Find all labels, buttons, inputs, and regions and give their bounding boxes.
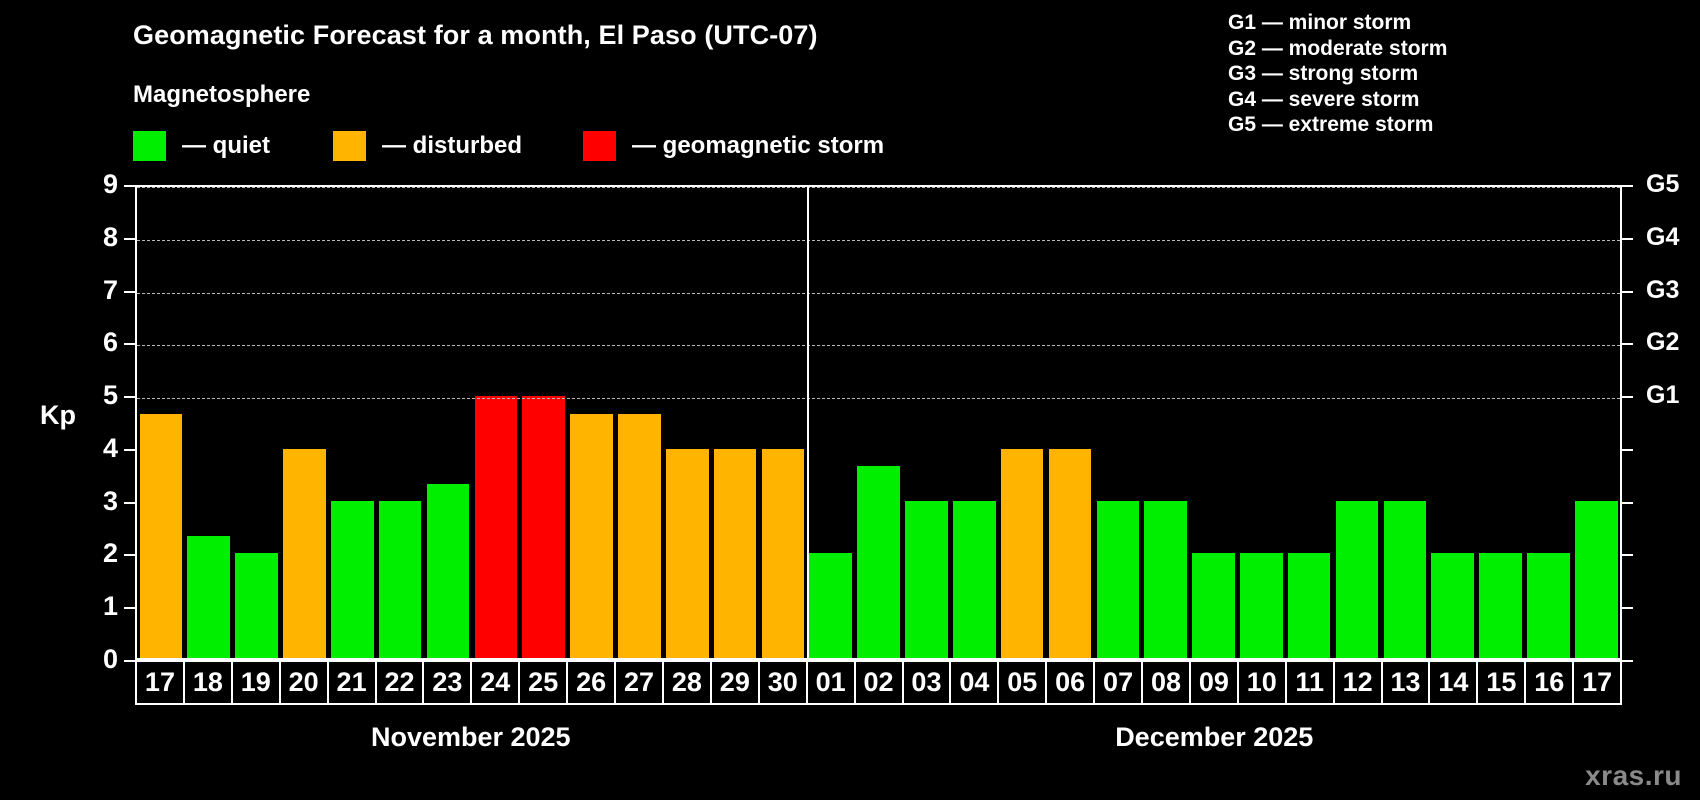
bar-cell [1285,187,1333,658]
bar-cell [807,187,855,658]
date-box-11[interactable]: 28 [662,660,712,705]
y-tick-label-2: 2 [72,540,118,567]
bar-cell [1237,187,1285,658]
date-box-21[interactable]: 08 [1141,660,1191,705]
chart-root: Geomagnetic Forecast for a month, El Pas… [0,0,1700,800]
bar-20[interactable] [283,449,326,658]
date-box-4[interactable]: 21 [327,660,377,705]
bar-24[interactable] [475,396,518,658]
bar-cell [376,187,424,658]
bar-cell [281,187,329,658]
gridline-kp-8 [137,240,1620,241]
gridline-kp-9 [137,187,1620,188]
date-box-25[interactable]: 12 [1333,660,1383,705]
bar-05[interactable] [1001,449,1044,658]
y-tick-5 [124,396,135,398]
bar-06[interactable] [1049,449,1092,658]
bar-cell [903,187,951,658]
date-box-10[interactable]: 27 [614,660,664,705]
bar-cell [472,187,520,658]
bar-cell [759,187,807,658]
bar-cell [1572,187,1620,658]
bar-cell [424,187,472,658]
bar-18[interactable] [187,536,230,658]
bar-cell [137,187,185,658]
bar-26[interactable] [570,414,613,658]
bar-cell [328,187,376,658]
date-box-7[interactable]: 24 [470,660,520,705]
y-tick-label-5: 5 [72,382,118,409]
g-tick-label-G3: G3 [1646,278,1679,303]
bar-12[interactable] [1336,501,1379,658]
date-box-19[interactable]: 06 [1045,660,1095,705]
date-box-13[interactable]: 30 [758,660,808,705]
storm-swatch [583,131,616,161]
g-scale-line-3: G3 — strong storm [1228,61,1447,87]
site-watermark: xras.ru [1585,760,1682,792]
bar-03[interactable] [905,501,948,658]
g-tick-label-G2: G2 [1646,330,1679,355]
bar-cell [711,187,759,658]
g-scale-line-1: G1 — minor storm [1228,10,1447,36]
y-tick-label-1: 1 [72,593,118,620]
bars-container [137,187,1620,658]
bar-19[interactable] [235,553,278,658]
y-tick-label-0: 0 [72,646,118,673]
right-tick-kp-5 [1622,396,1633,398]
y-tick-label-7: 7 [72,277,118,304]
y-tick-8 [124,238,135,240]
bar-08[interactable] [1144,501,1187,658]
g-tick-label-G5: G5 [1646,172,1679,197]
date-box-1[interactable]: 18 [183,660,233,705]
bar-14[interactable] [1431,553,1474,658]
plot-area [135,185,1622,660]
y-axis-title: Kp [40,400,76,431]
y-tick-6 [124,343,135,345]
bar-30[interactable] [762,449,805,658]
y-tick-label-9: 9 [72,171,118,198]
bar-02[interactable] [857,466,900,658]
month-divider [807,187,809,658]
y-tick-label-8: 8 [72,224,118,251]
right-tick-kp-2 [1622,554,1633,556]
bar-16[interactable] [1527,553,1570,658]
date-box-23[interactable]: 10 [1237,660,1287,705]
date-box-14[interactable]: 01 [806,660,856,705]
date-box-15[interactable]: 02 [854,660,904,705]
bar-11[interactable] [1288,553,1331,658]
bar-cell [520,187,568,658]
bar-09[interactable] [1192,553,1235,658]
date-box-12[interactable]: 29 [710,660,760,705]
bar-01[interactable] [809,553,852,658]
y-tick-1 [124,607,135,609]
y-tick-label-3: 3 [72,488,118,515]
date-box-8[interactable]: 25 [518,660,568,705]
g-scale-line-2: G2 — moderate storm [1228,36,1447,62]
y-tick-label-6: 6 [72,329,118,356]
bar-cell [663,187,711,658]
gridline-kp-7 [137,293,1620,294]
bar-04[interactable] [953,501,996,658]
date-box-18[interactable]: 05 [997,660,1047,705]
bar-cell [950,187,998,658]
bar-15[interactable] [1479,553,1522,658]
g-scale-legend: G1 — minor stormG2 — moderate stormG3 — … [1228,10,1447,138]
bar-cell [1190,187,1238,658]
bar-10[interactable] [1240,553,1283,658]
bar-cell [1429,187,1477,658]
date-box-24[interactable]: 11 [1285,660,1335,705]
legend-label-2: — geomagnetic storm [632,132,884,160]
gridline-kp-5 [137,398,1620,399]
date-box-30[interactable]: 17 [1572,660,1622,705]
g-tick-label-G1: G1 [1646,383,1679,408]
bar-cell [1046,187,1094,658]
bar-cell [1142,187,1190,658]
date-box-22[interactable]: 09 [1189,660,1239,705]
bar-29[interactable] [714,449,757,658]
month-label-november: November 2025 [135,722,807,753]
bar-cell [1381,187,1429,658]
bar-cell [615,187,663,658]
g-scale-line-5: G5 — extreme storm [1228,112,1447,138]
right-tick-kp-3 [1622,502,1633,504]
date-box-6[interactable]: 23 [422,660,472,705]
y-tick-0 [124,660,135,662]
y-tick-7 [124,291,135,293]
legend-label-1: — disturbed [382,132,522,160]
bar-21[interactable] [331,501,374,658]
bar-cell [233,187,281,658]
bar-17[interactable] [1575,501,1618,658]
legend-label-0: — quiet [182,132,270,160]
date-box-3[interactable]: 20 [279,660,329,705]
date-box-0[interactable]: 17 [135,660,185,705]
bar-cell [1524,187,1572,658]
y-tick-4 [124,449,135,451]
date-axis: 1718192021222324252627282930010203040506… [135,660,1622,705]
g-tick-label-G4: G4 [1646,225,1679,250]
date-box-16[interactable]: 03 [902,660,952,705]
bar-28[interactable] [666,449,709,658]
y-tick-2 [124,554,135,556]
bar-cell [998,187,1046,658]
bar-cell [1333,187,1381,658]
page-title: Geomagnetic Forecast for a month, El Pas… [133,20,818,51]
date-box-27[interactable]: 14 [1428,660,1478,705]
legend-item-0: — quiet [133,130,270,162]
right-tick-kp-6 [1622,343,1633,345]
quiet-swatch [133,131,166,161]
date-box-2[interactable]: 19 [231,660,281,705]
right-tick-kp-1 [1622,607,1633,609]
date-box-29[interactable]: 16 [1524,660,1574,705]
g-scale-line-4: G4 — severe storm [1228,87,1447,113]
bar-13[interactable] [1384,501,1427,658]
month-label-december: December 2025 [807,722,1622,753]
date-box-20[interactable]: 07 [1093,660,1143,705]
magnetosphere-heading: Magnetosphere [133,81,310,109]
legend-item-2: — geomagnetic storm [583,130,884,162]
y-tick-3 [124,502,135,504]
gridline-kp-6 [137,345,1620,346]
right-tick-kp-8 [1622,238,1633,240]
right-tick-kp-9 [1622,185,1633,187]
bar-23[interactable] [427,484,470,658]
bar-17[interactable] [140,414,183,658]
y-tick-9 [124,185,135,187]
disturbed-swatch [333,131,366,161]
bar-cell [855,187,903,658]
right-tick-kp-4 [1622,449,1633,451]
date-box-5[interactable]: 22 [375,660,425,705]
date-box-17[interactable]: 04 [949,660,999,705]
y-tick-label-4: 4 [72,435,118,462]
date-box-28[interactable]: 15 [1476,660,1526,705]
bar-cell [185,187,233,658]
bar-27[interactable] [618,414,661,658]
bar-cell [1477,187,1525,658]
bar-07[interactable] [1097,501,1140,658]
bar-25[interactable] [522,396,565,658]
bar-cell [1094,187,1142,658]
bar-22[interactable] [379,501,422,658]
right-tick-kp-0 [1622,660,1633,662]
date-box-9[interactable]: 26 [566,660,616,705]
right-tick-kp-7 [1622,291,1633,293]
bar-cell [568,187,616,658]
legend-item-1: — disturbed [333,130,522,162]
date-box-26[interactable]: 13 [1381,660,1431,705]
